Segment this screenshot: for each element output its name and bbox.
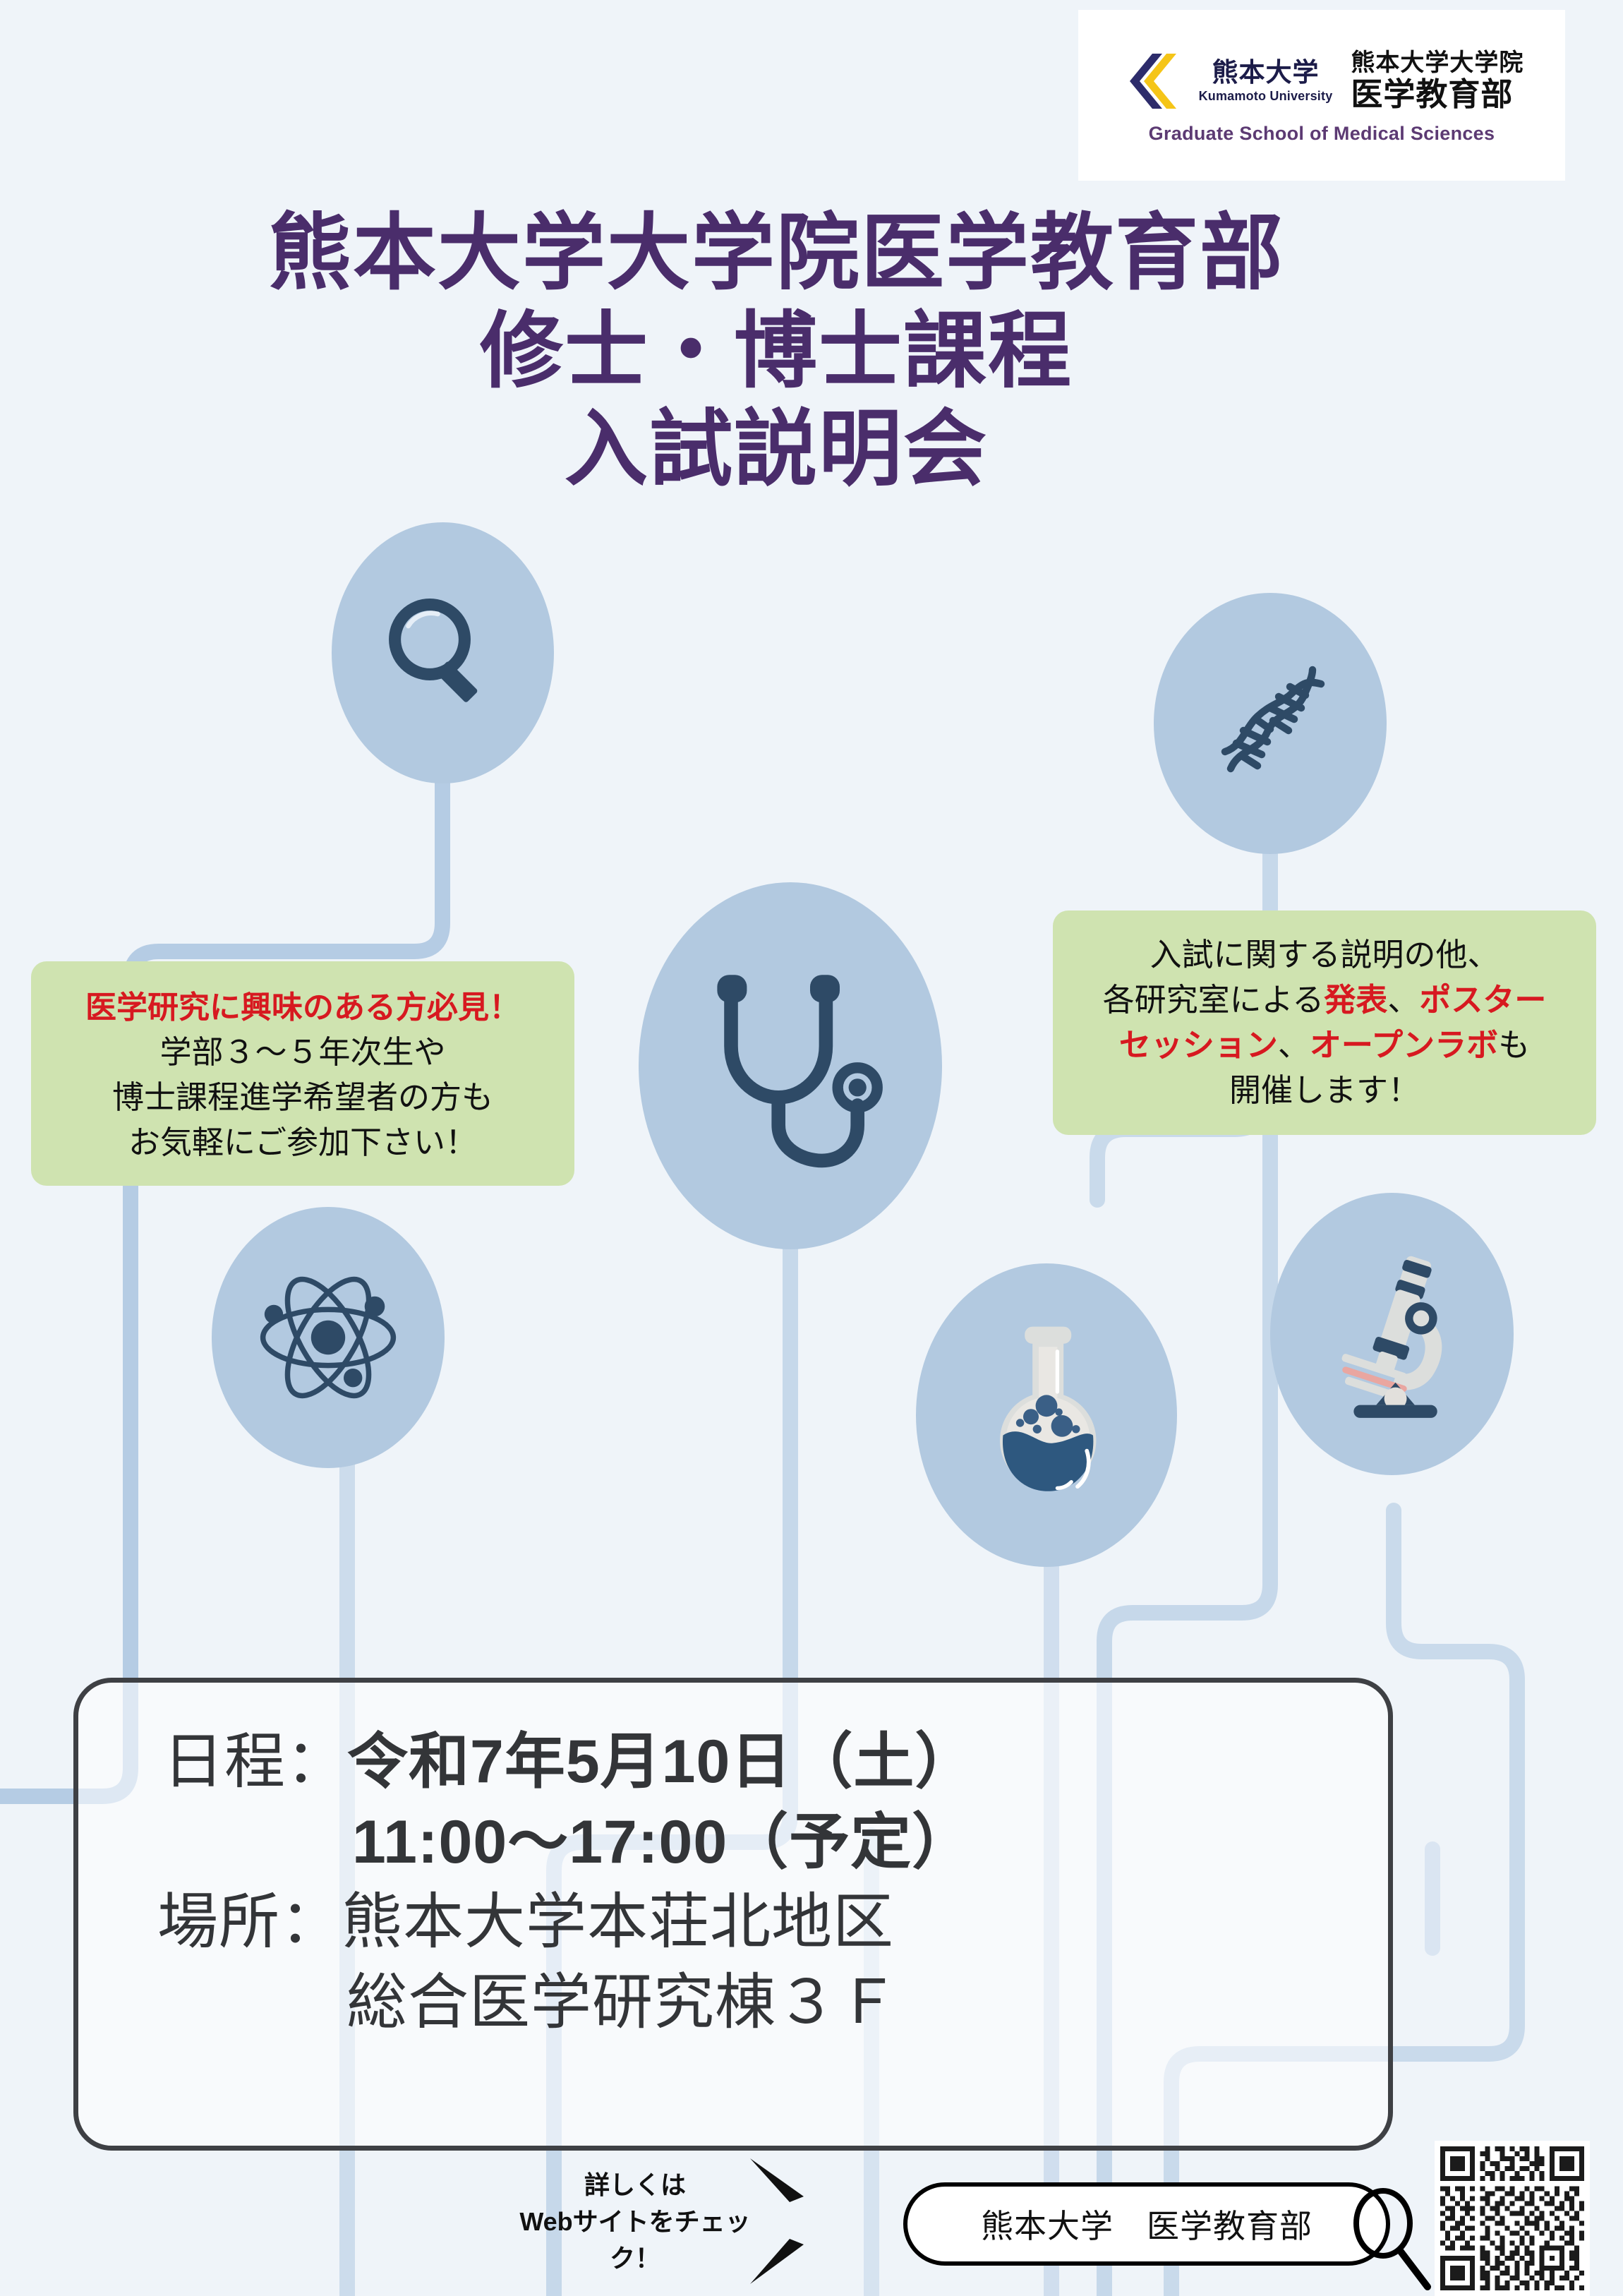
- title-line-2: 修士・博士課程: [0, 303, 1552, 401]
- web-check-note: 詳しくは Webサイトをチェック！: [501, 2167, 769, 2278]
- dna-icon: [1200, 653, 1341, 794]
- bubble-atom: [212, 1207, 445, 1468]
- stethoscope-icon: [692, 953, 889, 1179]
- title-line-3: 入試説明会: [0, 401, 1552, 499]
- logo-university-jp: 熊本大学: [1212, 59, 1320, 85]
- logo-row: 熊本大学 Kumamoto University 熊本大学大学院 医学教育部: [1120, 51, 1524, 112]
- callout-right-line-3: セッション、オープンラボも: [1119, 1023, 1530, 1068]
- flask-icon: [969, 1320, 1124, 1510]
- callout-left-line-1: 学部３〜５年次生や: [159, 1030, 445, 1075]
- web-note-line-2: Webサイトをチェック！: [501, 2204, 769, 2277]
- callout-right-l2-hl-b: ポスター: [1419, 982, 1546, 1018]
- callout-left: 医学研究に興味のある方必見！ 学部３〜５年次生や 博士課程進学希望者の方も お気…: [31, 961, 574, 1186]
- callout-right-line-2: 各研究室による発表、ポスター: [1103, 978, 1547, 1023]
- poster-root: 熊本大学 Kumamoto University 熊本大学大学院 医学教育部 G…: [0, 0, 1623, 2296]
- logo-department-line1: 熊本大学大学院: [1351, 51, 1524, 76]
- microscope-icon: [1311, 1244, 1473, 1424]
- info-date-value: 令和7年5月10日（土）: [347, 1728, 976, 1796]
- callout-right-l3-plain-a: 、: [1278, 1027, 1310, 1063]
- info-date-label: 日程：: [163, 1728, 347, 1796]
- info-place-row: 場所：熊本大学本荘北地区: [78, 1882, 1388, 1963]
- logo-department: 熊本大学大学院 医学教育部: [1351, 51, 1524, 111]
- qr-code-image: [1440, 2146, 1584, 2290]
- info-time-value: 11:00〜17:00（予定）: [78, 1803, 1388, 1883]
- magnifier-icon: [376, 586, 510, 720]
- bubble-dna: [1154, 593, 1387, 854]
- callout-right-l2-hl-a: 発表: [1324, 982, 1387, 1018]
- info-place-value: 熊本大学本荘北地区: [342, 1888, 894, 1956]
- web-note-line-1: 詳しくは: [501, 2167, 769, 2204]
- bubble-microscope: [1270, 1193, 1514, 1475]
- callout-right-l3-hl-b: オープンラボ: [1310, 1027, 1498, 1063]
- university-logo-box: 熊本大学 Kumamoto University 熊本大学大学院 医学教育部 G…: [1078, 10, 1565, 181]
- search-term-text: 熊本大学 医学教育部: [981, 2201, 1313, 2247]
- callout-right: 入試に関する説明の他、 各研究室による発表、ポスター セッション、オープンラボも…: [1053, 910, 1596, 1135]
- logo-university-en: Kumamoto University: [1199, 90, 1333, 102]
- callout-left-line-3: お気軽にご参加下さい！: [128, 1120, 477, 1165]
- atom-icon: [251, 1260, 406, 1415]
- page-title: 熊本大学大学院医学教育部 修士・博士課程 入試説明会: [0, 205, 1552, 500]
- kumamoto-chevron-logo-icon: [1120, 51, 1181, 112]
- pointer-arrows-icon: [744, 2146, 843, 2294]
- info-place-label: 場所：: [157, 1888, 342, 1956]
- logo-university-name: 熊本大学 Kumamoto University: [1199, 59, 1333, 102]
- search-glass-icon: [1344, 2187, 1436, 2292]
- callout-right-line-4: 開催します！: [1229, 1068, 1420, 1113]
- title-line-1: 熊本大学大学院医学教育部: [0, 205, 1552, 303]
- bubble-magnifier: [332, 522, 554, 783]
- logo-department-line2: 医学教育部: [1351, 78, 1524, 111]
- callout-right-line-1: 入試に関する説明の他、: [1150, 932, 1499, 978]
- callout-left-headline: 医学研究に興味のある方必見！: [85, 982, 520, 1027]
- callout-right-l3-hl-a: セッション: [1119, 1027, 1278, 1063]
- bubble-stethoscope: [639, 882, 942, 1249]
- callout-left-line-2: 博士課程進学希望者の方も: [112, 1075, 493, 1120]
- info-date-row: 日程：令和7年5月10日（土）: [78, 1722, 1388, 1803]
- callout-right-l2-plain-b: 、: [1387, 982, 1419, 1018]
- info-place-value-2: 総合医学研究棟３Ｆ: [78, 1963, 1388, 2043]
- logo-subtitle-english: Graduate School of Medical Sciences: [1149, 123, 1495, 145]
- event-info-box: 日程：令和7年5月10日（土） 11:00〜17:00（予定） 場所：熊本大学本…: [73, 1678, 1393, 2151]
- callout-right-l2-plain-a: 各研究室による: [1103, 982, 1325, 1018]
- callout-right-l3-plain-b: も: [1498, 1027, 1530, 1063]
- bubble-flask: [916, 1263, 1177, 1567]
- qr-code[interactable]: [1435, 2141, 1590, 2296]
- search-term-box[interactable]: 熊本大学 医学教育部: [903, 2182, 1390, 2266]
